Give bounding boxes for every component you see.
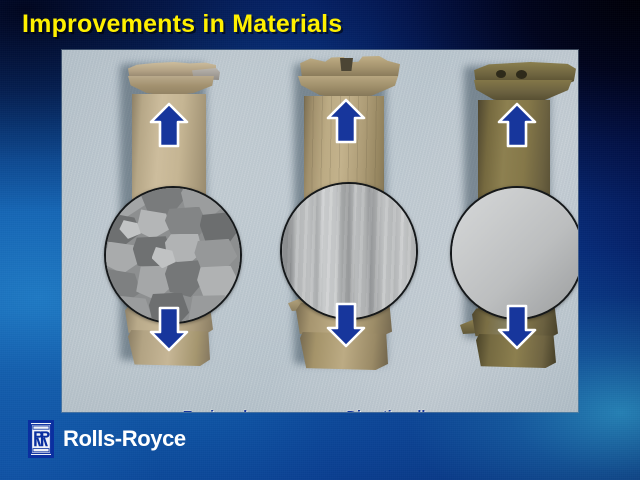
blade-tip-notch [340,58,353,71]
specimen-single-crystal [444,50,578,412]
caption-equiaxed: Equiaxed Crystal Structure [120,408,310,412]
rolls-royce-monogram [31,423,51,455]
caption-line-1: Directionally [290,408,490,412]
rolls-royce-badge-icon [28,420,54,458]
arrow-up-icon [496,102,538,148]
specimen-equiaxed [106,50,256,412]
micrograph-directionally-solidified [280,182,418,320]
arrow-down-icon [148,306,190,352]
blade-tip-hole [516,70,527,79]
caption-line-1: Equiaxed [120,408,310,412]
arrow-up-icon [325,98,367,144]
micrograph-equiaxed [104,186,242,324]
rr-monogram-glyph [31,424,51,454]
rolls-royce-wordmark: Rolls-Royce [63,428,186,450]
specimen-directionally-solidified [278,50,438,412]
arrow-up-icon [148,102,190,148]
micrograph-single-crystal [450,186,578,320]
caption-directionally-solidified: Directionally Solidified Structure [290,408,490,412]
slide-title: Improvements in Materials [22,10,342,39]
slide-canvas: Improvements in Materials [0,0,640,480]
columnar-grain-field [282,184,416,318]
columnar-striation-overlay [282,184,416,318]
rolls-royce-logo: Rolls-Royce [28,420,186,458]
photo-panel: Equiaxed Crystal Structure Directionally… [62,50,578,412]
arrow-down-icon [325,302,367,348]
blade-tip-hole [496,70,506,78]
grain-field [106,188,240,322]
arrow-down-icon [496,304,538,350]
single-crystal-field [452,188,578,318]
